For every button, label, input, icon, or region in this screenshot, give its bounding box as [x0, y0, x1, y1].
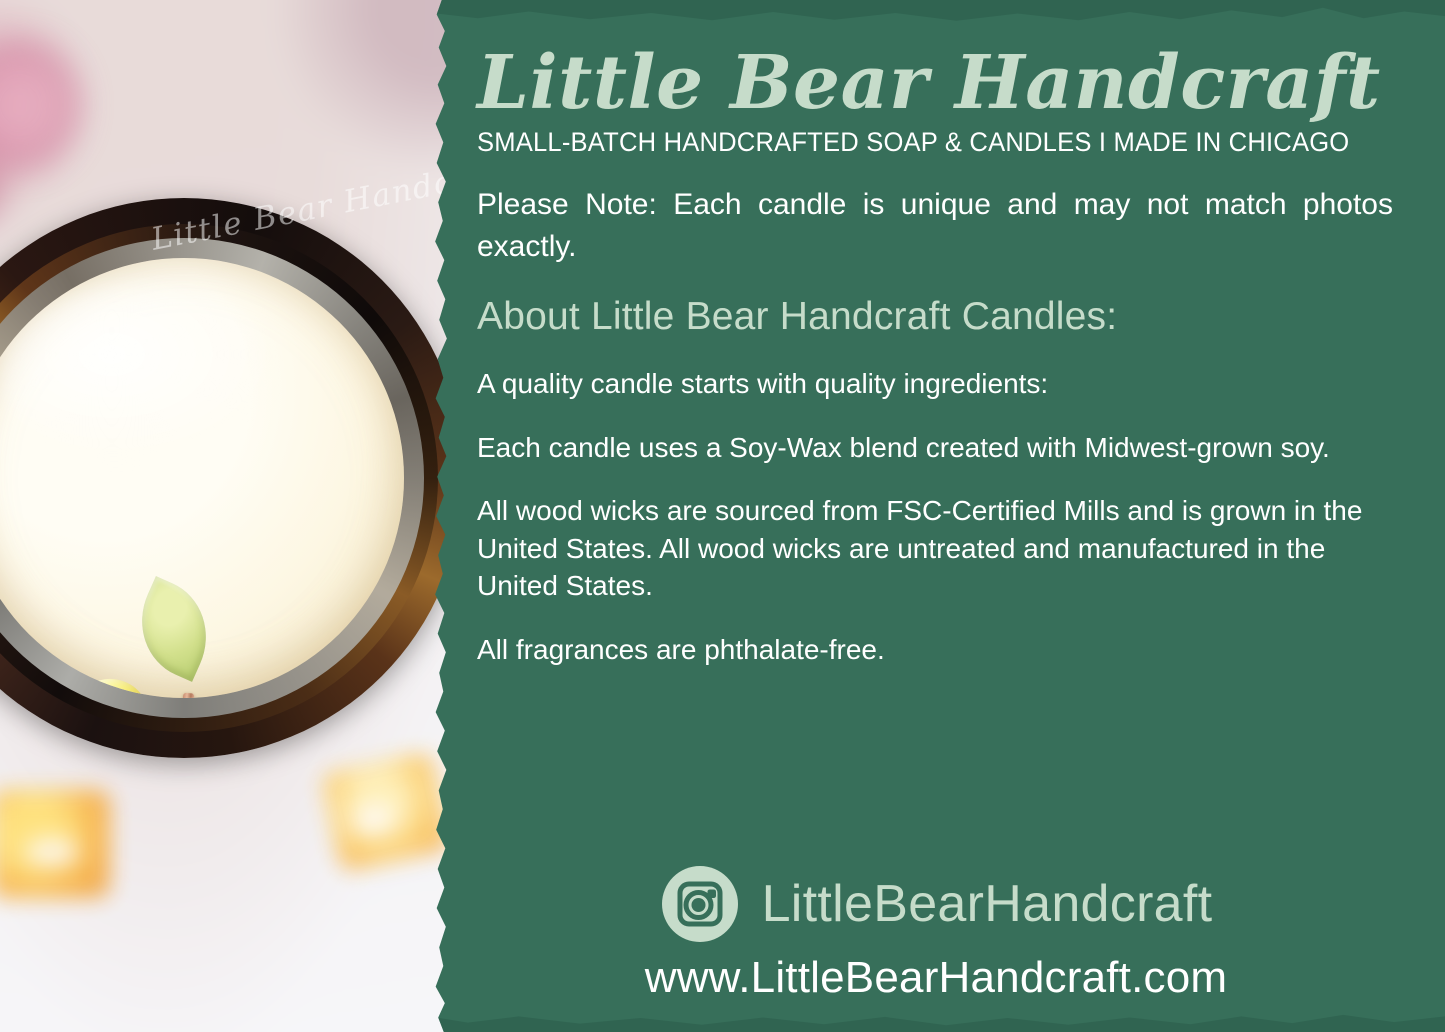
instagram-row[interactable]: LittleBearHandcraft [427, 864, 1445, 944]
please-note-text: Please Note: Each candle is unique and m… [477, 184, 1393, 267]
brand-tagline: SMALL-BATCH HANDCRAFTED SOAP & CANDLES I… [477, 127, 1361, 158]
wax-highlight [0, 284, 281, 460]
about-section-heading: About Little Bear Handcraft Candles: [477, 295, 1393, 339]
website-url[interactable]: www.LittleBearHandcraft.com [427, 956, 1445, 1000]
instagram-icon[interactable] [660, 864, 740, 944]
wax-leaf-top [123, 576, 226, 682]
about-paragraph: Each candle uses a Soy-Wax blend created… [477, 429, 1393, 467]
wax-flower-yellow [26, 683, 194, 698]
wax-d8-dice: 8 [177, 696, 281, 698]
product-photo: 8 Little Bear Handcraft [0, 0, 452, 1032]
info-panel-content: Little Bear Handcraft SMALL-BATCH HANDCR… [427, 0, 1445, 1032]
about-paragraph: All wood wicks are sourced from FSC-Cert… [477, 492, 1393, 605]
about-paragraph: All fragrances are phthalate-free. [477, 631, 1393, 669]
brand-title: Little Bear Handcraft [477, 46, 1393, 121]
info-panel: Little Bear Handcraft SMALL-BATCH HANDCR… [427, 0, 1445, 1032]
blurred-dice-left [0, 790, 110, 898]
instagram-handle[interactable]: LittleBearHandcraft [762, 878, 1213, 930]
panel-footer: LittleBearHandcraft www.LittleBearHandcr… [427, 864, 1445, 1000]
about-paragraph: A quality candle starts with quality ing… [477, 365, 1393, 403]
product-insert-card: 8 Little Bear Handcraft Little Bear Hand… [0, 0, 1445, 1032]
